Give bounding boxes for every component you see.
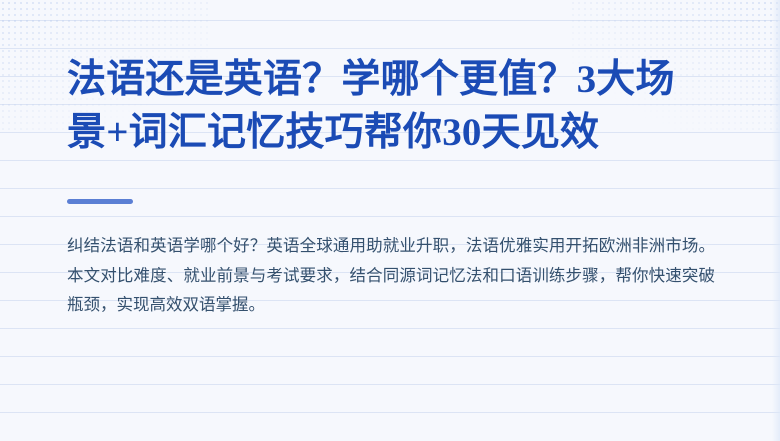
content-column: 法语还是英语？学哪个更值？3大场 景+词汇记忆技巧帮你30天见效 纠结法语和英语… xyxy=(67,0,727,441)
page-title: 法语还是英语？学哪个更值？3大场 景+词汇记忆技巧帮你30天见效 xyxy=(67,53,727,159)
article-summary-text: 纠结法语和英语学哪个好？英语全球通用助就业升职，法语优雅实用开拓欧洲非洲市场。本… xyxy=(67,232,715,321)
article-summary-card: 法语还是英语？学哪个更值？3大场 景+词汇记忆技巧帮你30天见效 纠结法语和英语… xyxy=(0,0,780,441)
right-edge-gradient xyxy=(772,0,780,441)
title-divider xyxy=(67,199,133,204)
